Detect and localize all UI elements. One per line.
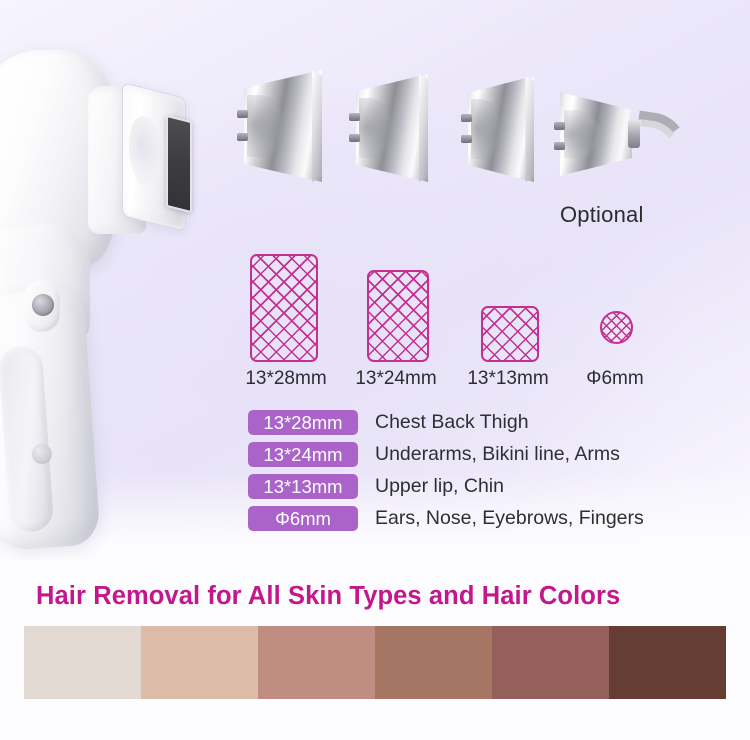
legend-areas-2: Underarms, Bikini line, Arms <box>375 443 620 466</box>
mount-pin-icon <box>349 134 360 142</box>
legend-badge-3: 13*13mm <box>248 474 358 499</box>
skin-tone-swatch-3 <box>258 626 375 699</box>
mount-pin-icon <box>554 122 565 130</box>
attachment-head-4-optional <box>560 84 690 184</box>
spot-size-legend: 13*28mm Chest Back Thigh 13*24mm Underar… <box>248 409 718 537</box>
product-infographic: Optional 13*28mm 13*24mm 13*13mm Φ6mm 13… <box>0 0 750 740</box>
attachment-heads-row <box>236 70 736 210</box>
attachment-head-2 <box>356 74 428 182</box>
legend-badge-1: 13*28mm <box>248 410 358 435</box>
legend-areas-4: Ears, Nose, Eyebrows, Fingers <box>375 507 644 530</box>
cone-edge <box>419 74 428 182</box>
skin-tone-swatch-4 <box>375 626 492 699</box>
attachment-head-1 <box>244 70 322 182</box>
skin-tone-swatch-1 <box>24 626 141 699</box>
cone-edge <box>312 70 322 182</box>
device-lens-highlight <box>129 113 165 194</box>
device-treatment-window <box>166 115 192 213</box>
device-illustration <box>0 28 230 548</box>
skin-tone-swatch-6 <box>609 626 726 699</box>
legend-row: 13*13mm Upper lip, Chin <box>248 473 718 500</box>
mount-pin-icon <box>461 114 472 122</box>
legend-badge-2: 13*24mm <box>248 442 358 467</box>
skin-tone-swatch-2 <box>141 626 258 699</box>
skin-tone-strip <box>24 626 726 699</box>
cone-shape <box>356 74 428 182</box>
skin-types-section: Hair Removal for All Skin Types and Hair… <box>0 560 750 740</box>
mount-pin-icon <box>461 135 472 143</box>
cone-shape <box>244 70 322 182</box>
spot-size-label-3: 13*13mm <box>462 368 554 390</box>
mount-pin-icon <box>554 142 565 150</box>
spot-size-label-2: 13*24mm <box>348 368 444 390</box>
spot-size-mesh-4 <box>600 311 633 344</box>
attachment-head-3 <box>468 76 534 182</box>
cone-shape <box>468 76 534 182</box>
spot-size-row: 13*28mm 13*24mm 13*13mm Φ6mm <box>236 220 666 390</box>
skin-tone-swatch-5 <box>492 626 609 699</box>
mount-pin-icon <box>237 110 248 118</box>
skin-types-heading: Hair Removal for All Skin Types and Hair… <box>36 582 620 611</box>
legend-areas-1: Chest Back Thigh <box>375 411 529 434</box>
spot-size-mesh-3 <box>481 306 539 362</box>
cone-edge <box>525 76 534 182</box>
legend-badge-4: Φ6mm <box>248 506 358 531</box>
device-trigger-dot-icon <box>32 294 54 316</box>
legend-row: Φ6mm Ears, Nose, Eyebrows, Fingers <box>248 505 718 532</box>
legend-areas-3: Upper lip, Chin <box>375 475 504 498</box>
mount-pin-icon <box>349 113 360 121</box>
spot-size-label-4: Φ6mm <box>572 368 658 390</box>
spot-size-mesh-1 <box>250 254 318 362</box>
device-secondary-button <box>32 444 52 464</box>
spot-size-label-1: 13*28mm <box>232 368 340 390</box>
spot-size-mesh-2 <box>367 270 429 362</box>
legend-row: 13*24mm Underarms, Bikini line, Arms <box>248 441 718 468</box>
mount-pin-icon <box>237 133 248 141</box>
legend-row: 13*28mm Chest Back Thigh <box>248 409 718 436</box>
